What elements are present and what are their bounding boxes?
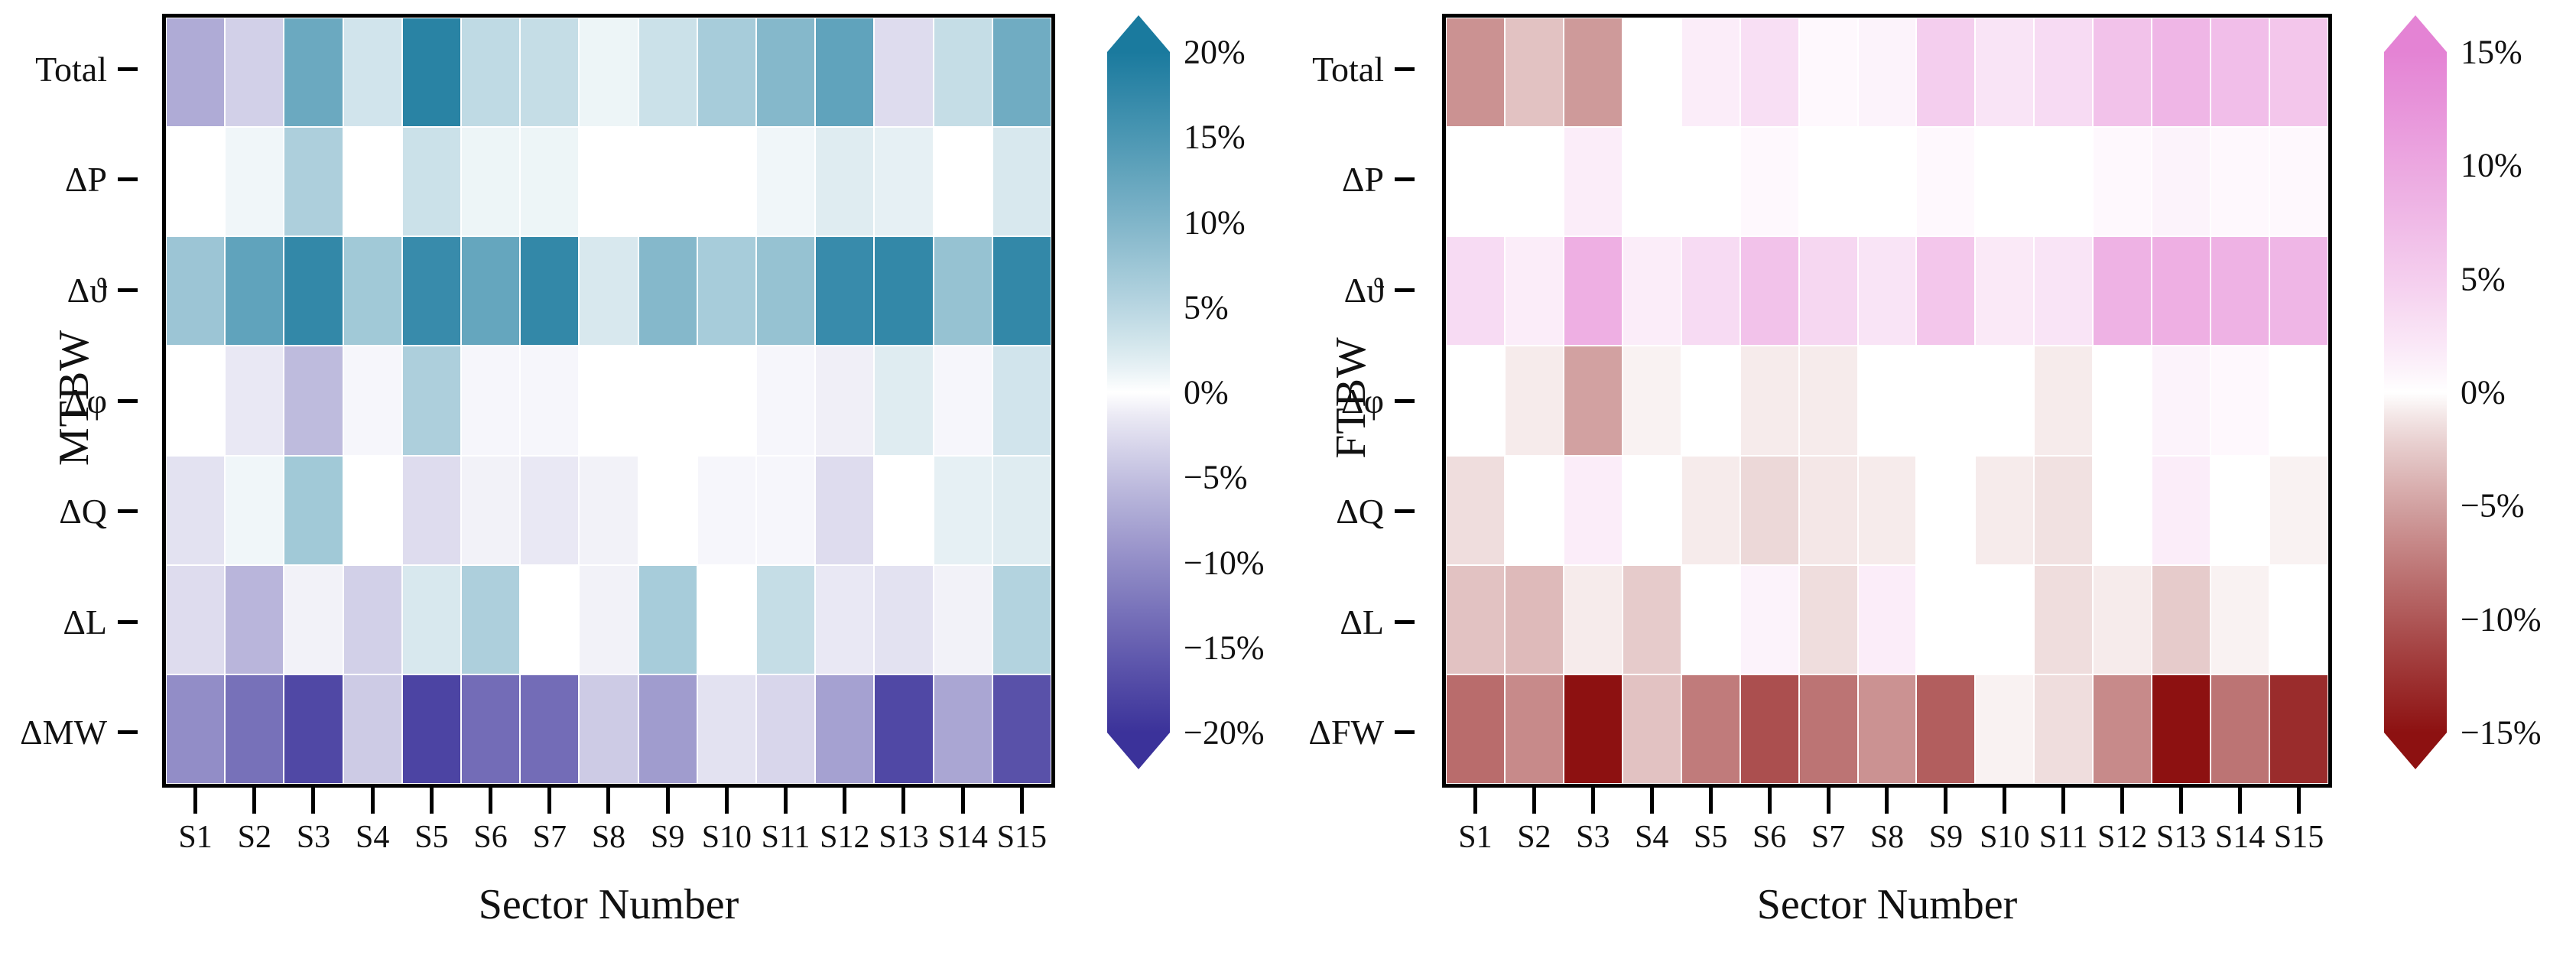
x-tick-mark [784,788,788,814]
heatmap-cell [284,127,343,236]
heatmap-cell [2152,127,2211,236]
x-tick-mark [371,788,375,814]
y-tick-mark [118,177,138,181]
heatmap-cell [756,346,815,455]
heatmap-cell [934,346,992,455]
heatmap-cell [874,127,933,236]
colorbar-tick-label: 5% [2461,259,2506,298]
heatmap-cell [934,456,992,565]
heatmap-cell [992,236,1051,346]
heatmap-cell [343,456,402,565]
heatmap-cell [2211,18,2269,127]
y-tick-label: ΔMW [8,677,145,788]
colorbar-tick-label: −5% [2461,486,2524,525]
y-tick-label: ΔP [8,125,145,236]
x-tick-marks-left [166,788,1051,814]
x-tick-label: S9 [1916,815,1975,860]
heatmap-cell [638,456,697,565]
heatmap-cell [166,236,225,346]
colorbar-left: 20%15%10%5%0%−5%−10%−15%−20% [1107,0,1298,975]
heatmap-cell [2034,236,2093,346]
heatmap-cell [520,127,579,236]
heatmap-cell [992,127,1051,236]
y-tick-mark [1395,399,1415,403]
heatmap-cell [520,565,579,674]
heatmap-cell [697,18,756,127]
heatmap-cell [284,565,343,674]
heatmap-cell [874,236,933,346]
heatmap-cell [402,346,461,455]
heatmap-cell [402,18,461,127]
heatmap-cell [579,236,638,346]
heatmap-cell [2269,127,2328,236]
heatmap-cell [1681,18,1740,127]
heatmap-cell [1799,236,1858,346]
heatmap-cell [1564,565,1623,674]
heatmap-cell [2034,127,2093,236]
heatmap-cell [2152,236,2211,346]
heatmap-cell [225,18,284,127]
heatmap-cell [166,565,225,674]
heatmap-cell [284,674,343,784]
heatmap-cell [343,346,402,455]
y-tick-mark [1395,288,1415,292]
heatmap-cell [461,674,520,784]
heatmap-cell [1799,456,1858,565]
heatmap-cell [874,18,933,127]
heatmap-cell [1446,236,1505,346]
heatmap-cell [2211,565,2269,674]
x-tick-label: S4 [343,815,402,860]
heatmap-cell [1975,346,2034,455]
heatmap-cell [1975,674,2034,784]
y-tick-text: ΔQ [1336,491,1384,531]
heatmap-cell [1505,456,1564,565]
heatmap-cell [284,456,343,565]
heatmap-cell [520,18,579,127]
x-tick-mark [193,788,197,814]
heatmap-cell [815,674,874,784]
heatmap-grid-left [162,14,1055,788]
heatmap-cell [2093,674,2152,784]
heatmap-cell [1446,18,1505,127]
heatmap-cell [166,674,225,784]
heatmap-cell [2034,456,2093,565]
heatmap-cell [697,565,756,674]
heatmap-cell [579,565,638,674]
y-tick-mark [118,620,138,624]
heatmap-cell [697,674,756,784]
heatmap-cell [697,456,756,565]
heatmap-cell [579,127,638,236]
x-tick-label: S11 [756,815,815,860]
heatmap-cell [2211,674,2269,784]
heatmap-cell [1623,674,1681,784]
heatmap-cell [1916,674,1975,784]
colorbar-tick-label: −10% [1184,543,1264,582]
colorbar-extend-bottom-left [1107,733,1170,769]
y-tick-labels-left: TotalΔPΔϑΔφΔQΔLΔMW [8,14,145,788]
heatmap-cell [1799,18,1858,127]
heatmap-cell [1975,456,2034,565]
heatmap-cell [1858,127,1917,236]
heatmap-cell [756,674,815,784]
heatmap-cell [1446,565,1505,674]
y-tick-label: Total [1285,14,1422,125]
heatmap-cell [166,456,225,565]
heatmap-cell [638,346,697,455]
heatmap-cell [815,346,874,455]
heatmap-cell [1975,565,2034,674]
heatmap-cell [815,565,874,674]
heatmap-cell [225,127,284,236]
heatmap-cell [1505,346,1564,455]
heatmap-cell [874,565,933,674]
x-tick-mark [666,788,670,814]
heatmap-cell [1858,18,1917,127]
heatmap-cell [638,236,697,346]
x-tick-mark [1591,788,1595,814]
heatmap-cell [2269,346,2328,455]
heatmap-cell [461,127,520,236]
y-tick-mark [1395,67,1415,71]
heatmap-cell [2034,346,2093,455]
heatmap-cell [1740,674,1799,784]
heatmap-cell [1505,127,1564,236]
heatmap-cell [225,236,284,346]
heatmap-cell [2211,456,2269,565]
heatmap-cell [402,456,461,565]
heatmap-cell [461,236,520,346]
heatmap-cell [1681,565,1740,674]
x-tick-mark [1944,788,1947,814]
y-tick-text: ΔMW [20,712,107,752]
heatmap-cell [1623,346,1681,455]
x-tick-label: S5 [402,815,461,860]
heatmap-cell [1564,236,1623,346]
heatmap-cell [934,236,992,346]
y-tick-mark [118,730,138,734]
x-tick-marks-right [1446,788,2328,814]
heatmap-cell [402,565,461,674]
heatmap-cell [1975,127,2034,236]
figure-root: MTBW TotalΔPΔϑΔφΔQΔLΔMW S1S2S3S4S5S6S7S8… [0,0,2576,975]
colorbar-tick-label: −15% [2461,713,2541,752]
x-tick-label: S1 [1446,815,1505,860]
x-tick-label: S6 [1740,815,1799,860]
x-tick-label: S2 [225,815,284,860]
x-tick-mark [2238,788,2242,814]
y-tick-text: ΔQ [59,491,107,531]
x-tick-mark [1532,788,1536,814]
x-tick-mark [843,788,846,814]
heatmap-cell [1681,127,1740,236]
heatmap-cell [1564,346,1623,455]
x-tick-mark [2179,788,2183,814]
colorbar-right: 15%10%5%0%−5%−10%−15% [2384,0,2575,975]
heatmap-cell [1799,674,1858,784]
heatmap-cell [1916,18,1975,127]
heatmap-cell [1623,236,1681,346]
colorbar-tick-label: 20% [1184,33,1246,72]
colorbar-gradient-right [2384,52,2447,733]
colorbar-extend-top-left [1107,15,1170,52]
heatmap-cell [1446,674,1505,784]
colorbar-tick-label: 10% [1184,203,1246,242]
x-tick-label: S10 [697,815,756,860]
y-tick-mark [118,288,138,292]
heatmap-cell [1740,18,1799,127]
heatmap-cell [638,18,697,127]
heatmap-cell [1858,565,1917,674]
heatmap-cell [1975,18,2034,127]
y-tick-mark [1395,730,1415,734]
x-tick-label: S8 [579,815,638,860]
heatmap-cell [1681,674,1740,784]
x-tick-mark [2061,788,2065,814]
heatmap-cell [2152,565,2211,674]
heatmap-cell [1446,127,1505,236]
y-tick-text: Total [1312,49,1384,89]
panel-mtbw: MTBW TotalΔPΔϑΔφΔQΔLΔMW S1S2S3S4S5S6S7S8… [0,0,1300,975]
y-tick-text: Total [35,49,107,89]
heatmap-cell [2269,236,2328,346]
heatmap-cell [1564,18,1623,127]
heatmap-cell [461,456,520,565]
x-tick-labels-right: S1S2S3S4S5S6S7S8S9S10S11S12S13S14S15 [1446,815,2328,860]
heatmap-cell [1623,18,1681,127]
x-axis-title-left: Sector Number [166,878,1051,931]
y-tick-text: ΔP [1342,159,1384,200]
heatmap-cell [402,127,461,236]
heatmap-cell [1916,456,1975,565]
heatmap-cell [992,565,1051,674]
y-tick-mark [118,67,138,71]
heatmap-cell [2093,127,2152,236]
heatmap-cell [934,674,992,784]
heatmap-cell [520,456,579,565]
heatmap-cell [284,18,343,127]
heatmap-cell [402,674,461,784]
heatmap-cell [1564,127,1623,236]
heatmap-cell [756,18,815,127]
y-tick-label: ΔP [1285,125,1422,236]
heatmap-cell [1446,346,1505,455]
heatmap-cell [520,346,579,455]
x-tick-mark [311,788,315,814]
x-tick-mark [725,788,729,814]
x-tick-label: S4 [1623,815,1681,860]
x-tick-label: S6 [461,815,520,860]
x-tick-label: S3 [284,815,343,860]
colorbar-tick-label: 0% [1184,373,1229,412]
heatmap-cell [1564,674,1623,784]
x-tick-label: S5 [1681,815,1740,860]
x-tick-label: S7 [1799,815,1858,860]
heatmap-cell [756,565,815,674]
y-tick-label: ΔQ [8,456,145,567]
y-tick-label: ΔQ [1285,456,1422,567]
heatmap-cell [756,127,815,236]
colorbar-extend-bottom-right [2384,733,2447,769]
x-tick-label: S11 [2034,815,2093,860]
x-tick-mark [1768,788,1772,814]
heatmap-cell [579,346,638,455]
heatmap-cell [992,456,1051,565]
heatmap-cell [166,18,225,127]
x-tick-label: S13 [874,815,933,860]
x-tick-label: S15 [2269,815,2328,860]
y-tick-text: Δφ [1341,381,1384,421]
colorbar-tick-label: 15% [2461,33,2522,72]
heatmap-cell [697,346,756,455]
heatmap-cell [1740,127,1799,236]
x-tick-label: S10 [1975,815,2034,860]
heatmap-cell [2269,565,2328,674]
x-tick-label: S3 [1564,815,1623,860]
heatmap-cell [1446,456,1505,565]
heatmap-cell [520,674,579,784]
heatmap-cell [2211,346,2269,455]
heatmap-cell [166,127,225,236]
heatmap-cell [1505,18,1564,127]
y-tick-label: ΔL [8,567,145,678]
heatmap-cell [1505,565,1564,674]
heatmap-cell [815,236,874,346]
y-tick-text: Δφ [64,381,107,421]
heatmap-cell [461,565,520,674]
heatmap-cell [1858,456,1917,565]
heatmap-cell [343,565,402,674]
heatmap-cell [1975,236,2034,346]
x-tick-label: S1 [166,815,225,860]
panel-ftbw: FTBW TotalΔPΔϑΔφΔQΔLΔFW S1S2S3S4S5S6S7S8… [1277,0,2576,975]
heatmap-cell [1623,565,1681,674]
heatmap-cell [815,127,874,236]
colorbar-tick-label: −15% [1184,628,1264,667]
heatmap-cell [343,674,402,784]
y-tick-mark [1395,177,1415,181]
y-tick-label: ΔFW [1285,677,1422,788]
heatmap-cell [2152,674,2211,784]
x-tick-mark [901,788,905,814]
heatmap-cell [1858,674,1917,784]
x-tick-label: S12 [2093,815,2152,860]
heatmap-cell [1681,346,1740,455]
heatmap-cell [1916,346,1975,455]
x-tick-mark [606,788,610,814]
x-tick-mark [2120,788,2124,814]
heatmap-cell [1916,236,1975,346]
heatmap-cell [225,346,284,455]
y-tick-label: Δϑ [1285,235,1422,346]
heatmap-cell [579,674,638,784]
y-tick-mark [1395,620,1415,624]
heatmap-cell [1799,346,1858,455]
x-tick-label: S2 [1505,815,1564,860]
x-tick-mark [1473,788,1477,814]
y-tick-label: ΔL [1285,567,1422,678]
heatmap-cell [638,674,697,784]
heatmap-cell [638,127,697,236]
heatmap-cell [2152,456,2211,565]
heatmap-cell [1858,346,1917,455]
heatmap-cell [756,236,815,346]
y-tick-label: Δφ [1285,346,1422,457]
colorbar-tick-label: 0% [2461,373,2506,412]
heatmap-cell [992,674,1051,784]
heatmap-cell [461,18,520,127]
y-tick-text: Δϑ [1344,270,1384,310]
heatmap-cell [343,18,402,127]
heatmap-cell [2269,674,2328,784]
heatmap-cell [1740,456,1799,565]
y-tick-label: Δϑ [8,235,145,346]
heatmap-cell [697,236,756,346]
heatmap-cell [2034,565,2093,674]
x-tick-label: S9 [638,815,697,860]
heatmap-cell [402,236,461,346]
heatmap-cell [2269,18,2328,127]
y-tick-labels-right: TotalΔPΔϑΔφΔQΔLΔFW [1285,14,1422,788]
x-tick-labels-left: S1S2S3S4S5S6S7S8S9S10S11S12S13S14S15 [166,815,1051,860]
heatmap-cell [225,456,284,565]
heatmap-cell [2211,236,2269,346]
colorbar-tick-label: −20% [1184,713,1264,752]
heatmap-cell [815,18,874,127]
heatmap-cell [874,346,933,455]
heatmap-cell [343,236,402,346]
y-tick-text: ΔP [65,159,107,200]
heatmap-cell [2093,346,2152,455]
colorbar-tick-label: 5% [1184,288,1229,327]
y-tick-mark [118,509,138,513]
y-tick-mark [118,399,138,403]
colorbar-tick-label: −5% [1184,458,1247,497]
x-tick-mark [252,788,256,814]
x-axis-title-right: Sector Number [1446,878,2328,931]
heatmap-cell [461,346,520,455]
y-tick-text: ΔL [1340,602,1384,642]
y-tick-label: Total [8,14,145,125]
heatmap-cell [284,236,343,346]
x-tick-label: S14 [2211,815,2269,860]
heatmap-cell [1505,236,1564,346]
x-tick-mark [1650,788,1654,814]
heatmap-cell [2211,127,2269,236]
heatmap-cell [284,346,343,455]
y-tick-text: Δϑ [67,270,107,310]
x-tick-mark [1885,788,1889,814]
heatmap-cell [1505,674,1564,784]
heatmap-cell [815,456,874,565]
heatmap-cell [1623,456,1681,565]
colorbar-tick-label: 10% [2461,146,2522,185]
heatmap-cell [1799,565,1858,674]
y-tick-text: ΔFW [1308,712,1384,752]
heatmap-cell [934,565,992,674]
heatmap-cell [225,674,284,784]
heatmap-cell [1740,346,1799,455]
x-tick-label: S12 [815,815,874,860]
x-tick-mark [2297,788,2301,814]
heatmap-cell [343,127,402,236]
colorbar-tick-label: 15% [1184,118,1246,157]
x-tick-label: S13 [2152,815,2211,860]
heatmap-cell [2152,346,2211,455]
heatmap-cell [1681,456,1740,565]
heatmap-cell [166,346,225,455]
